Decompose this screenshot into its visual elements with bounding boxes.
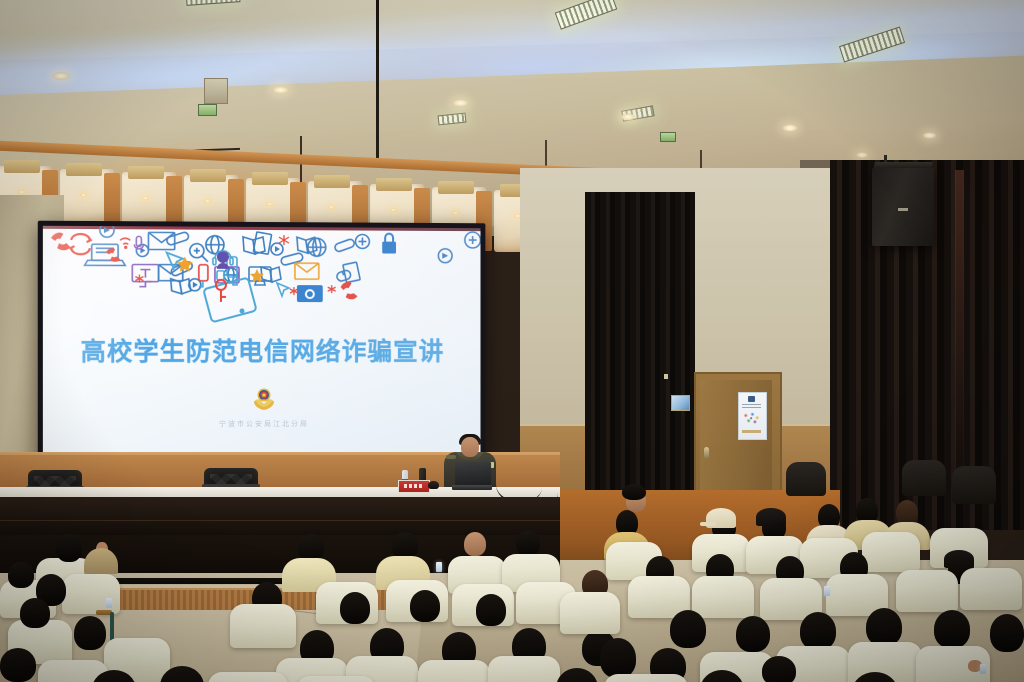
baffle-top-8 (438, 181, 474, 194)
baffle-downlight-7 (390, 208, 397, 212)
audience-head (800, 612, 836, 650)
audience-head (0, 648, 36, 682)
poster-text-lines (742, 404, 761, 409)
audience-head (934, 610, 970, 648)
stage-curtain-left (585, 192, 695, 514)
exit-sign-right (660, 132, 676, 142)
audience-seat[interactable] (560, 592, 620, 634)
baffle-top-4 (190, 169, 226, 182)
blue-wall-sign (671, 395, 690, 411)
rear-seat-dark[interactable] (952, 466, 996, 504)
student-phone[interactable] (824, 586, 830, 596)
baffle-downlight-3 (142, 196, 149, 200)
recessed-downlight-4 (620, 113, 636, 121)
baffle-downlight-1 (18, 190, 25, 194)
audience-seat[interactable] (960, 568, 1022, 610)
exit-sign-left (198, 104, 217, 116)
audience-seat[interactable] (230, 604, 296, 648)
student-phone[interactable] (980, 664, 986, 674)
poster-footer-bar (742, 430, 761, 433)
curtain-highlight (955, 170, 964, 500)
slide-title: 高校学生防范电信网络诈骗宣讲 (43, 332, 481, 368)
poster-logo (748, 396, 755, 402)
audience-head (762, 656, 796, 682)
audience-seat[interactable] (208, 672, 288, 682)
rear-seat-dark[interactable] (786, 462, 826, 496)
person-with-dark-cap (756, 508, 786, 526)
audience-head (670, 610, 706, 648)
recessed-downlight-5 (782, 124, 798, 132)
audience-head (410, 590, 440, 622)
slide-subtitle: 宁波市公安局江北分局 (43, 418, 481, 430)
audience-head (622, 484, 646, 500)
china-police-emblem (251, 387, 277, 413)
speaker-badge (898, 208, 908, 211)
recessed-downlight-7 (856, 152, 868, 158)
audience-seat[interactable] (488, 656, 560, 682)
audience-head (736, 616, 770, 652)
baffle-top-6 (314, 175, 350, 188)
air-diffuser (204, 78, 228, 104)
cap-brim (700, 522, 716, 526)
baffle-downlight-2 (80, 193, 87, 197)
baffle-top-2 (66, 163, 102, 176)
audience-head (866, 608, 902, 646)
audience-head (8, 562, 34, 588)
audience-head (600, 638, 636, 678)
student-phone[interactable] (436, 562, 442, 572)
baffle-downlight-4 (204, 199, 211, 203)
recessed-downlight-2 (272, 86, 289, 94)
audience-head (990, 614, 1024, 652)
auditorium-photo: 高校学生防范电信网络诈骗宣讲 宁波市公安局江北分局 (0, 0, 1024, 682)
technology-fraud-icon-cluster (43, 226, 481, 319)
recessed-downlight-3 (452, 99, 469, 107)
audience-head (340, 592, 370, 624)
baffle-downlight-6 (328, 205, 335, 209)
audience-head (74, 616, 106, 650)
audience-seat[interactable] (62, 574, 120, 614)
baffle-top-7 (376, 178, 412, 191)
audience-head (464, 532, 486, 556)
audience-seat[interactable] (862, 532, 920, 572)
baffle-downlight-8 (452, 211, 459, 215)
ceiling-mounted-pa-speaker (872, 168, 934, 246)
audience-head (56, 534, 82, 562)
baffle-downlight-5 (266, 202, 273, 206)
projection-screen: 高校学生防范电信网络诈骗宣讲 宁波市公安局江北分局 (43, 226, 481, 458)
audience-seating (0, 470, 1024, 682)
wall-switch-plate[interactable] (664, 374, 668, 379)
audience-seat[interactable] (296, 676, 376, 682)
baffle-top-3 (128, 166, 164, 179)
audience-shoulder (84, 548, 118, 574)
door-handle[interactable] (704, 447, 709, 459)
audience-seat[interactable] (896, 570, 958, 612)
audience-head (516, 530, 540, 556)
presenter-epaulet (446, 455, 456, 459)
presenter-head (461, 437, 479, 457)
rear-seat-dark[interactable] (902, 460, 946, 496)
audience-seat[interactable] (692, 576, 754, 618)
recessed-downlight-6 (922, 132, 937, 139)
recessed-downlight-1 (52, 72, 70, 80)
audience-seat[interactable] (604, 674, 688, 682)
audience-head (476, 594, 506, 626)
baffle-top-5 (252, 172, 288, 185)
student-phone[interactable] (106, 598, 112, 608)
projection-screen-bezel: 高校学生防范电信网络诈骗宣讲 宁波市公安局江北分局 (38, 221, 486, 464)
audience-head (556, 668, 598, 682)
audience-seat[interactable] (418, 660, 490, 682)
baffle-top-1 (4, 160, 40, 173)
poster-graphic (742, 411, 761, 426)
rigging-pole (376, 0, 379, 162)
audience-head (20, 598, 50, 628)
